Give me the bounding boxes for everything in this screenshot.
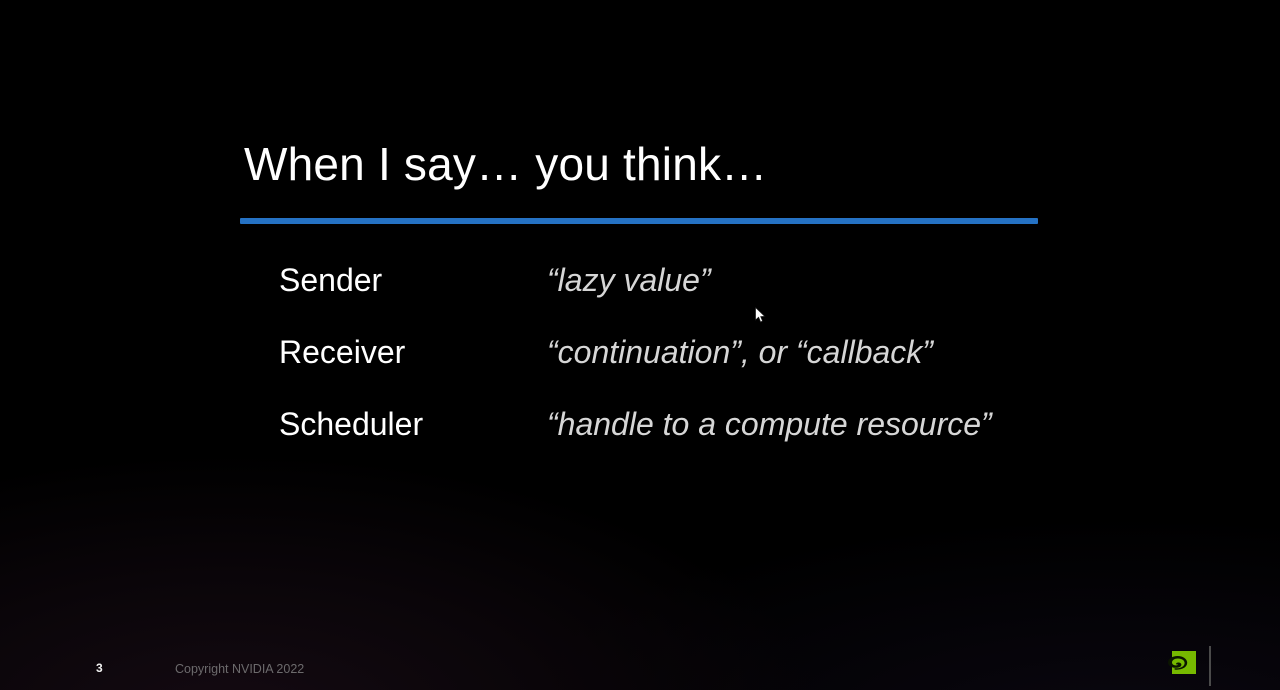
copyright-notice: Copyright NVIDIA 2022 [175, 661, 304, 677]
term-label-receiver: Receiver [279, 330, 405, 374]
nvidia-eye-logo-icon [1166, 651, 1196, 674]
footer-divider [1209, 646, 1211, 686]
list-item: Sender “lazy value” [279, 258, 1179, 330]
gloss-label-scheduler: “handle to a compute resource” [547, 402, 992, 446]
presentation-slide: When I say… you think… Sender “lazy valu… [0, 0, 1280, 690]
list-item: Scheduler “handle to a compute resource” [279, 402, 1179, 474]
term-definition-list: Sender “lazy value” Receiver “continuati… [279, 258, 1179, 474]
term-label-sender: Sender [279, 258, 382, 302]
list-item: Receiver “continuation”, or “callback” [279, 330, 1179, 402]
gloss-label-receiver: “continuation”, or “callback” [547, 330, 933, 374]
gloss-label-sender: “lazy value” [547, 258, 711, 302]
slide-number: 3 [96, 660, 103, 676]
slide-title: When I say… you think… [244, 136, 1144, 192]
title-underline-rule [240, 218, 1038, 224]
mouse-pointer-icon [755, 307, 767, 324]
term-label-scheduler: Scheduler [279, 402, 423, 446]
